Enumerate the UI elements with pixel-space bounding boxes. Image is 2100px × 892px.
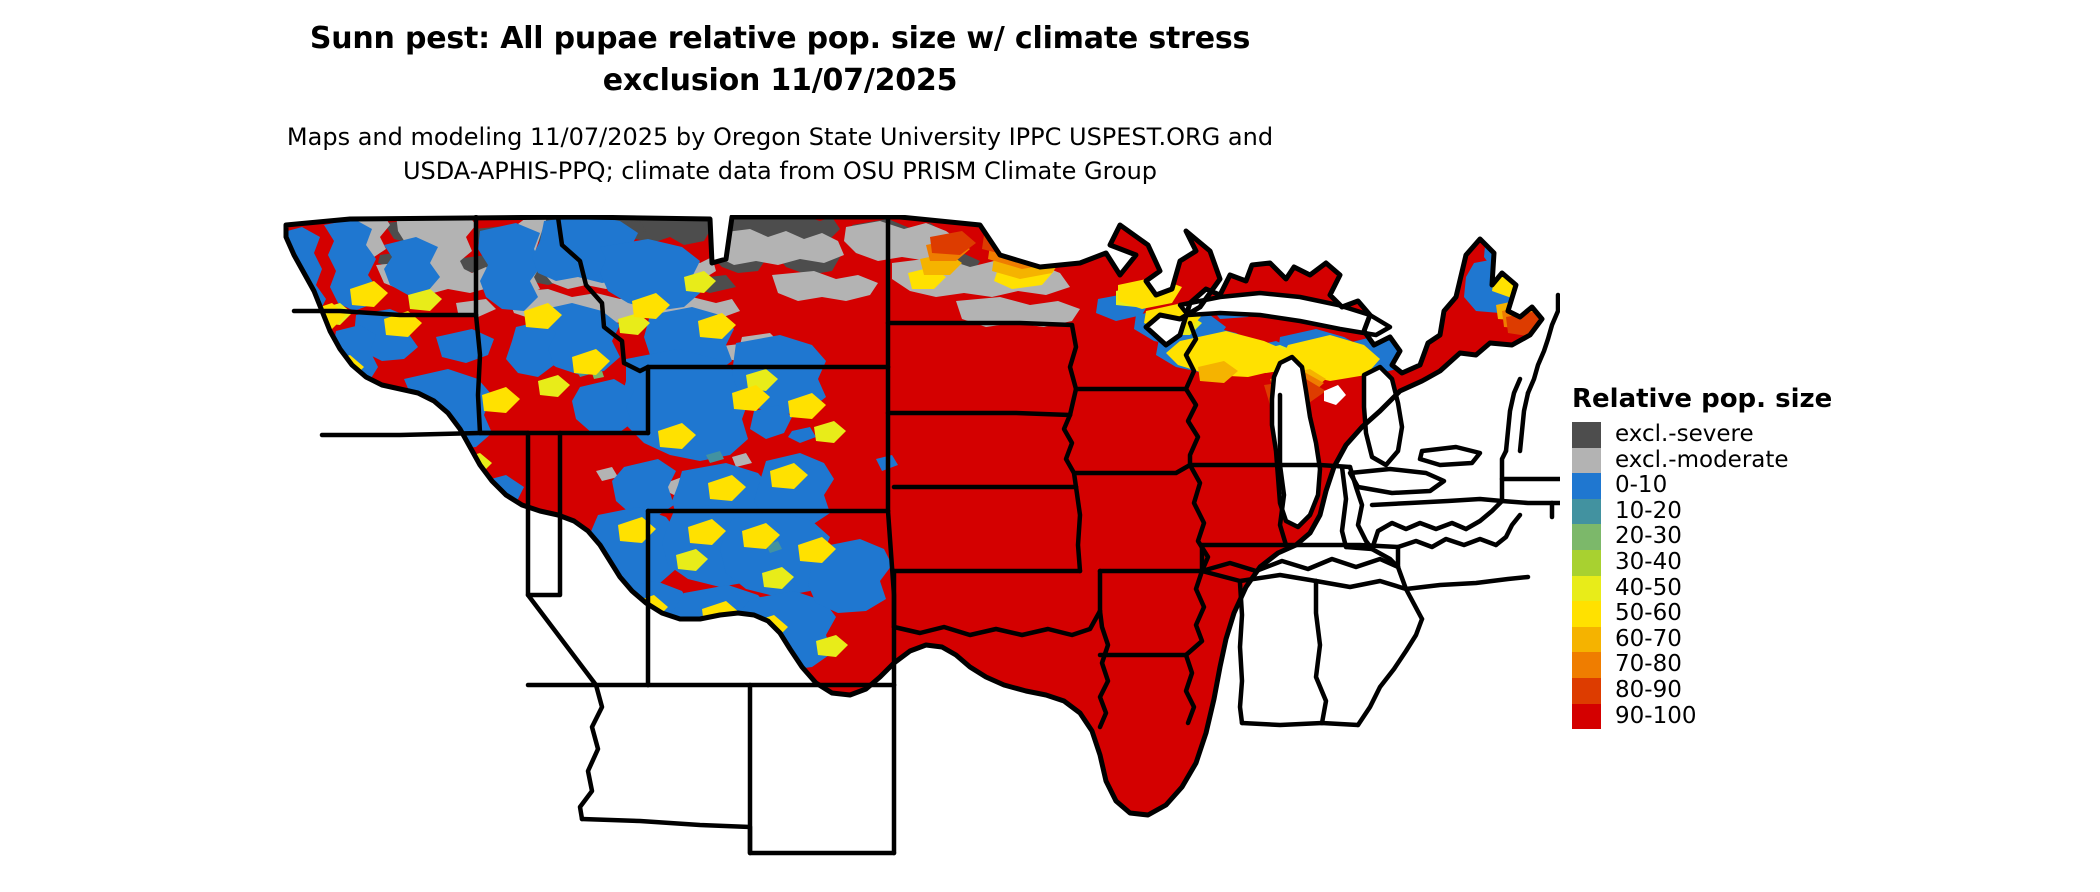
legend-row[interactable]: 0-10 (1572, 473, 1992, 499)
legend-label: 50-60 (1615, 601, 1682, 627)
legend-row[interactable]: 40-50 (1572, 576, 1992, 602)
legend-color-swatch (1572, 499, 1601, 525)
map-figure (280, 215, 1560, 875)
title-line-1: Sunn pest: All pupae relative pop. size … (0, 18, 1560, 60)
legend-color-swatch (1572, 652, 1601, 678)
legend-label: 80-90 (1615, 678, 1682, 704)
legend-color-swatch (1572, 601, 1601, 627)
us-choropleth-map (280, 215, 1560, 875)
legend-row[interactable]: 10-20 (1572, 499, 1992, 525)
subtitle-line-2: USDA-APHIS-PPQ; climate data from OSU PR… (0, 154, 1560, 188)
legend-row[interactable]: 70-80 (1572, 652, 1992, 678)
page-subtitle: Maps and modeling 11/07/2025 by Oregon S… (0, 120, 1560, 188)
legend-color-swatch (1572, 678, 1601, 704)
legend-label: 30-40 (1615, 550, 1682, 576)
legend-color-swatch (1572, 448, 1601, 474)
legend-row[interactable]: 90-100 (1572, 704, 1992, 730)
legend-color-swatch (1572, 550, 1601, 576)
legend-color-swatch (1572, 422, 1601, 448)
legend-color-swatch (1572, 627, 1601, 653)
legend-label: 20-30 (1615, 524, 1682, 550)
legend-label: 0-10 (1615, 473, 1667, 499)
legend-color-swatch (1572, 576, 1601, 602)
subtitle-line-1: Maps and modeling 11/07/2025 by Oregon S… (0, 120, 1560, 154)
legend-row[interactable]: 60-70 (1572, 627, 1992, 653)
legend-label: excl.-severe (1615, 422, 1754, 448)
legend-row[interactable]: 20-30 (1572, 524, 1992, 550)
legend-label: excl.-moderate (1615, 448, 1789, 474)
legend-label: 60-70 (1615, 627, 1682, 653)
legend-color-swatch (1572, 524, 1601, 550)
legend-label: 40-50 (1615, 576, 1682, 602)
legend-label: 70-80 (1615, 652, 1682, 678)
page-title: Sunn pest: All pupae relative pop. size … (0, 18, 1560, 102)
legend-label: 90-100 (1615, 704, 1696, 730)
legend-title: Relative pop. size (1572, 386, 1992, 412)
legend-color-swatch (1572, 704, 1601, 730)
map-legend: Relative pop. size excl.-severeexcl.-mod… (1572, 386, 1992, 729)
legend-row[interactable]: excl.-severe (1572, 422, 1992, 448)
legend-row[interactable]: 50-60 (1572, 601, 1992, 627)
legend-row[interactable]: excl.-moderate (1572, 448, 1992, 474)
legend-label: 10-20 (1615, 499, 1682, 525)
legend-items: excl.-severeexcl.-moderate0-1010-2020-30… (1572, 422, 1992, 729)
title-line-2: exclusion 11/07/2025 (0, 60, 1560, 102)
legend-row[interactable]: 80-90 (1572, 678, 1992, 704)
legend-color-swatch (1572, 473, 1601, 499)
figure-root: Sunn pest: All pupae relative pop. size … (0, 0, 2100, 892)
legend-row[interactable]: 30-40 (1572, 550, 1992, 576)
